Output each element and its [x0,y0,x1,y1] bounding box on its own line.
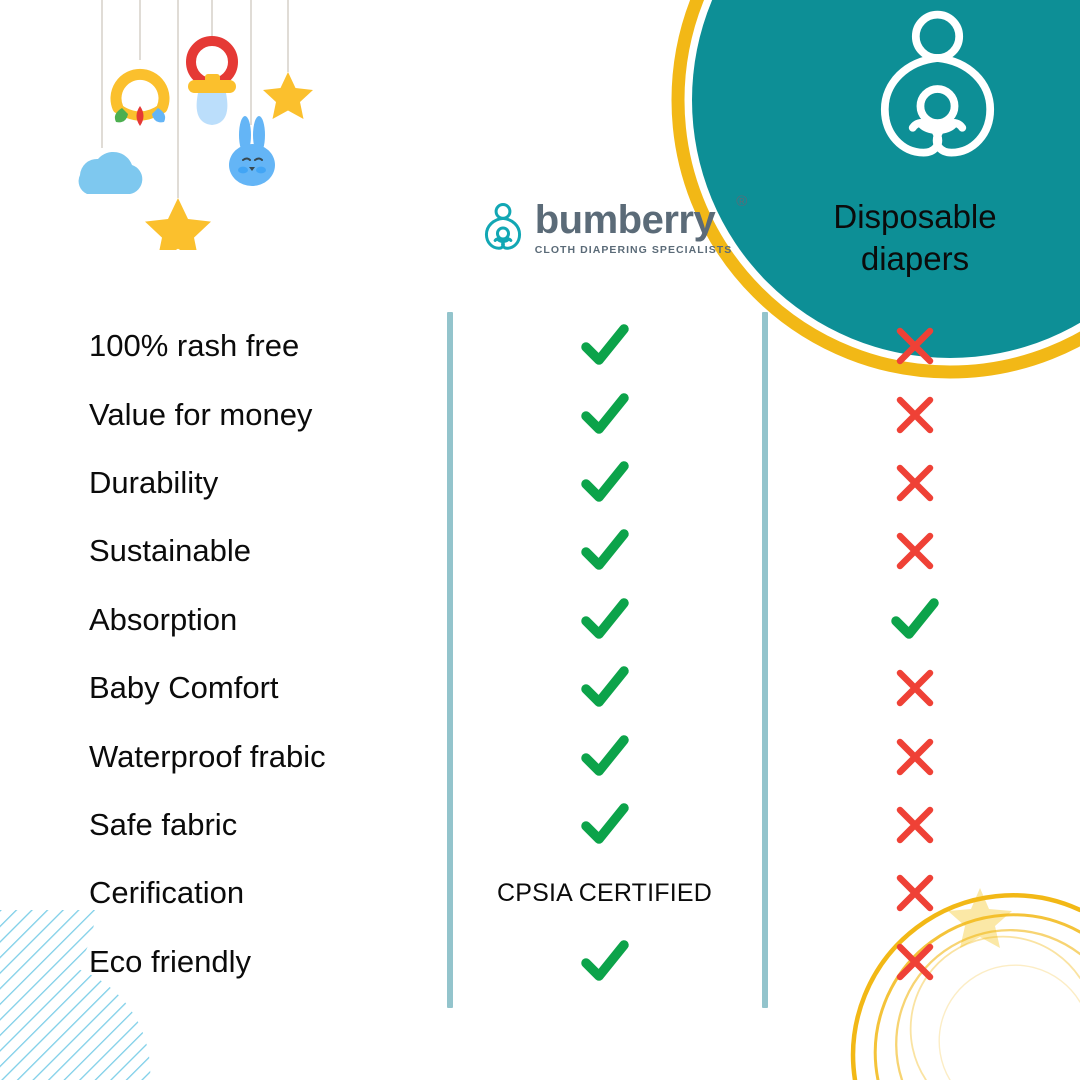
cross-icon [893,529,937,573]
brand-wordmark: bumberry ® CLOTH DIAPERING SPECIALISTS [535,200,733,256]
rattle-ring-toy [115,74,165,126]
brand-tagline: CLOTH DIAPERING SPECIALISTS [535,244,733,256]
table-row: Safe fabric [0,791,1080,859]
table-row: 100% rash free [0,312,1080,380]
star-toy [263,72,313,119]
disposable-cell [765,666,1065,710]
table-row: Durability [0,449,1080,517]
cloud-toy [79,152,143,194]
parent-and-child-icon [480,201,526,255]
bunny-toy [229,116,275,186]
table-row: Baby Comfort [0,654,1080,722]
disposable-cell [765,594,1065,646]
check-icon [579,457,631,509]
check-icon [579,594,631,646]
disposable-column-header: Disposable diapers [765,196,1065,280]
cross-icon [893,871,937,915]
check-icon [889,594,941,646]
check-icon [579,662,631,714]
cross-icon [893,324,937,368]
disposable-cell [765,871,1065,915]
cross-icon [893,803,937,847]
disposable-header-line-2: diapers [765,238,1065,280]
feature-label: 100% rash free [0,328,447,364]
cross-icon [893,393,937,437]
disposable-cell [765,461,1065,505]
disposable-cell [765,735,1065,779]
check-icon [579,389,631,441]
feature-label: Cerification [0,875,447,911]
bumberry-cell [447,389,762,441]
bumberry-cell: CPSIA CERTIFIED [447,879,762,908]
feature-label: Value for money [0,397,447,433]
bumberry-cell [447,936,762,988]
bumberry-cell [447,662,762,714]
bumberry-cell [447,799,762,851]
cross-icon [893,735,937,779]
cross-icon [893,940,937,984]
disposable-cell [765,940,1065,984]
feature-label: Baby Comfort [0,670,447,706]
disposable-header-line-1: Disposable [765,196,1065,238]
table-row: Sustainable [0,517,1080,585]
check-icon [579,525,631,577]
cross-icon [893,461,937,505]
check-icon [579,936,631,988]
check-icon [579,731,631,783]
disposable-cell [765,803,1065,847]
brand-name: bumberry [535,200,733,240]
feature-label: Eco friendly [0,944,447,980]
pacifier-toy [188,41,236,125]
feature-label: Absorption [0,602,447,638]
table-row: Eco friendly [0,928,1080,996]
table-header: bumberry ® CLOTH DIAPERING SPECIALISTS D… [0,196,1080,296]
feature-label: Sustainable [0,533,447,569]
feature-label: Durability [0,465,447,501]
table-row: CerificationCPSIA CERTIFIED [0,859,1080,927]
table-row: Waterproof frabic [0,722,1080,790]
feature-label: Safe fabric [0,807,447,843]
table-row: Value for money [0,380,1080,448]
disposable-cell [765,529,1065,573]
bumberry-cell [447,594,762,646]
check-icon [579,799,631,851]
table-row: Absorption [0,586,1080,654]
disposable-cell [765,324,1065,368]
feature-label: Waterproof frabic [0,739,447,775]
bumberry-cell [447,457,762,509]
bumberry-cell [447,320,762,372]
registered-trademark-icon: ® [736,194,747,209]
certification-label: CPSIA CERTIFIED [497,879,712,908]
bumberry-cell [447,731,762,783]
brand-column-header: bumberry ® CLOTH DIAPERING SPECIALISTS [447,200,765,256]
check-icon [579,320,631,372]
comparison-table: 100% rash freeValue for moneyDurabilityS… [0,312,1080,996]
bumberry-cell [447,525,762,577]
cross-icon [893,666,937,710]
disposable-cell [765,393,1065,437]
